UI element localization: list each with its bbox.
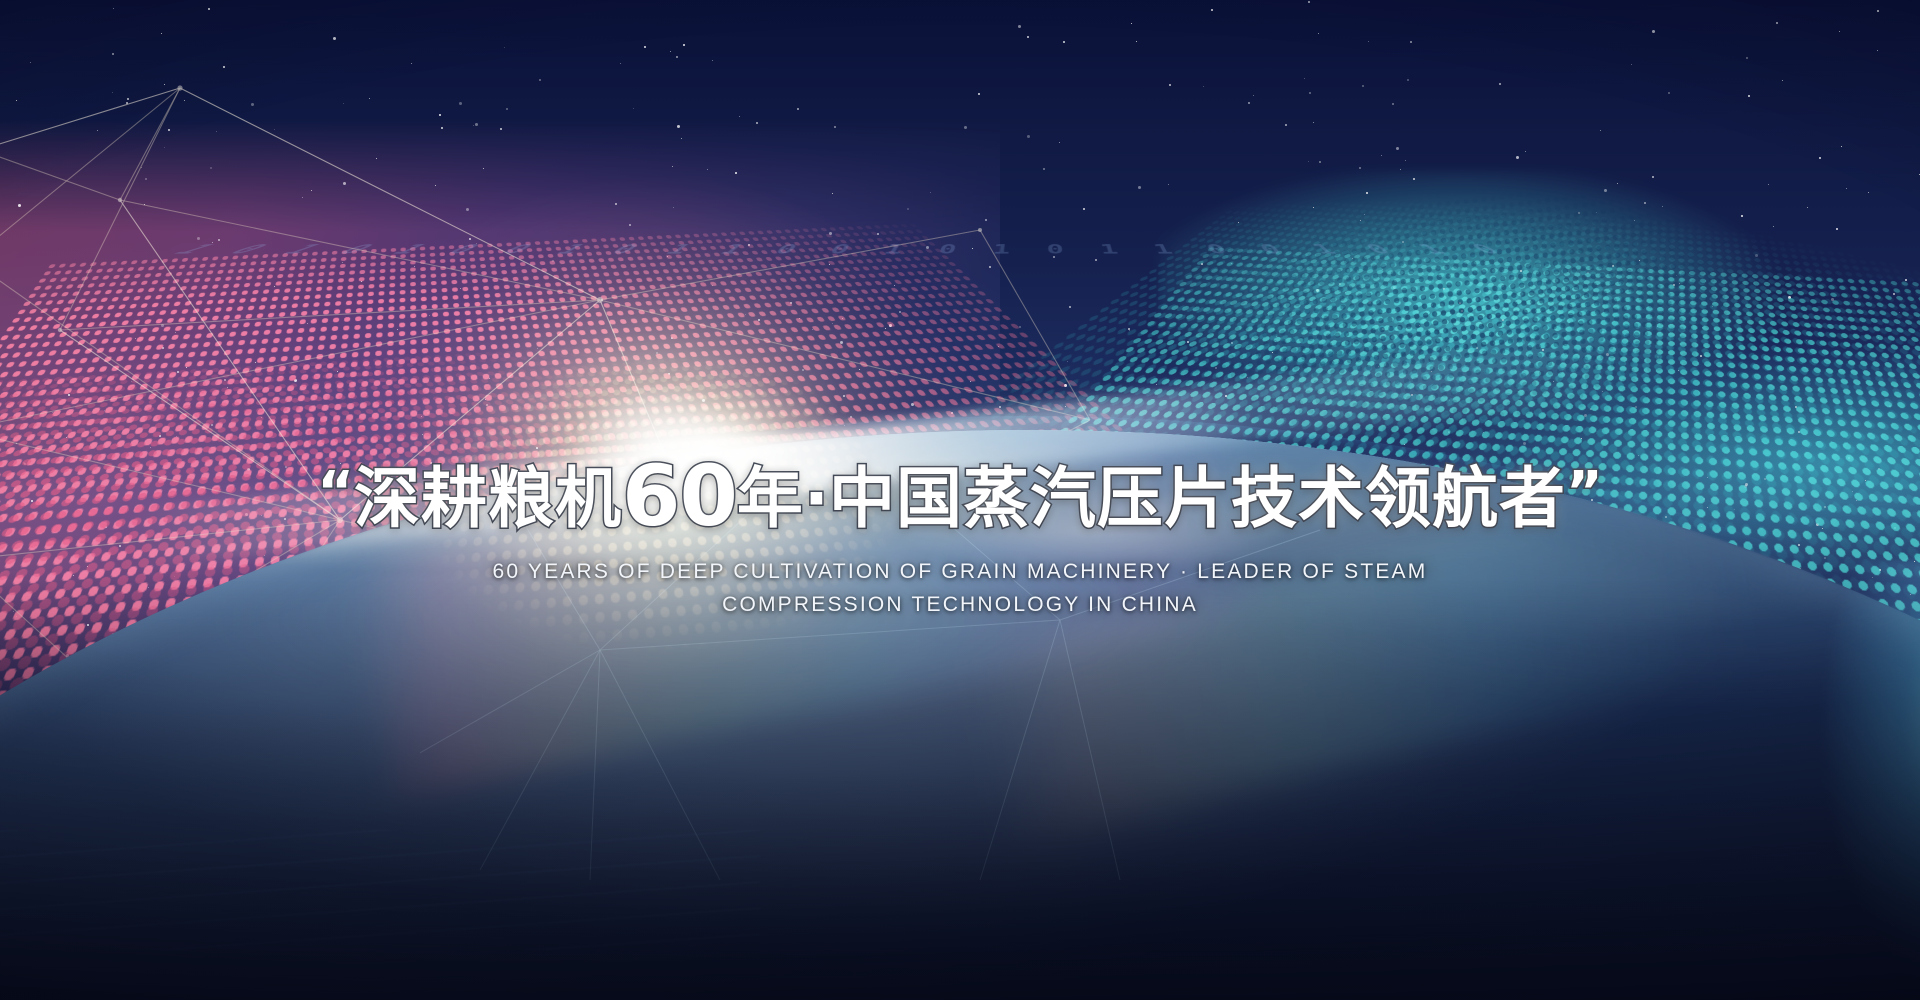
binary-digit: 0 — [1203, 242, 1235, 257]
headline-part-3: 中国蒸汽压片技术领航者 — [829, 460, 1566, 537]
binary-digit: 1 — [382, 242, 440, 257]
binary-digit: 1 — [1307, 242, 1345, 257]
binary-digit: 0 — [215, 242, 283, 257]
binary-digit: 0 — [603, 242, 648, 257]
binary-digit: 1 — [271, 242, 336, 257]
right-edge-atmosphere-glow — [1600, 560, 1920, 1000]
headline-part-1: 深耕粮机 — [354, 460, 622, 537]
anniversary-number: 60 — [622, 447, 737, 545]
binary-digit: 0 — [825, 242, 858, 257]
binary-digit: 1 — [160, 242, 231, 257]
binary-digit: 1 — [991, 242, 1014, 257]
headline-block: “深耕粮机60年·中国蒸汽压片技术领航者” 60 YEARS OF DEEP C… — [0, 452, 1920, 621]
binary-digit: 0 — [1255, 242, 1290, 257]
halftone-wave-left-secondary — [0, 338, 1301, 1000]
magenta-color-wash — [0, 120, 1000, 740]
subtitle: 60 YEARS OF DEEP CULTIVATION OF GRAIN MA… — [0, 555, 1920, 621]
page-title: “深耕粮机60年·中国蒸汽压片技术领航者” — [0, 452, 1920, 541]
scanline-streaks — [0, 830, 760, 950]
subtitle-line-2: COMPRESSION TECHNOLOGY IN CHINA — [0, 588, 1920, 621]
network-mesh-left — [0, 0, 1100, 780]
binary-digit: 0 — [770, 242, 806, 257]
binary-digit: 1 — [659, 242, 701, 257]
binary-digit: 1 — [881, 242, 910, 257]
halftone-wave-right — [698, 246, 1920, 1000]
binary-digit: 0 — [326, 242, 387, 257]
headline-separator: · — [804, 460, 829, 537]
hero-banner: 1010100101100101011001010 — [0, 0, 1920, 1000]
headline-part-2: 年 — [737, 460, 804, 537]
binary-digit-strip: 1010100101100101011001010 — [0, 239, 1920, 260]
binary-digit: 0 — [1360, 242, 1402, 257]
close-quote-mark: ” — [1566, 460, 1603, 525]
binary-digit: 0 — [1464, 242, 1512, 257]
binary-digit: 1 — [1098, 242, 1124, 257]
binary-digit: 0 — [437, 242, 492, 257]
subtitle-line-1: 60 YEARS OF DEEP CULTIVATION OF GRAIN MA… — [0, 555, 1920, 588]
open-quote-mark: “ — [317, 460, 354, 525]
binary-digit: 0 — [1046, 242, 1068, 257]
binary-digit: 1 — [714, 242, 753, 257]
binary-digit: 1 — [1412, 242, 1457, 257]
binary-digit: 0 — [936, 242, 962, 257]
binary-digit: 1 — [1151, 242, 1180, 257]
binary-digit: 0 — [493, 242, 545, 257]
binary-digit: 1 — [548, 242, 597, 257]
